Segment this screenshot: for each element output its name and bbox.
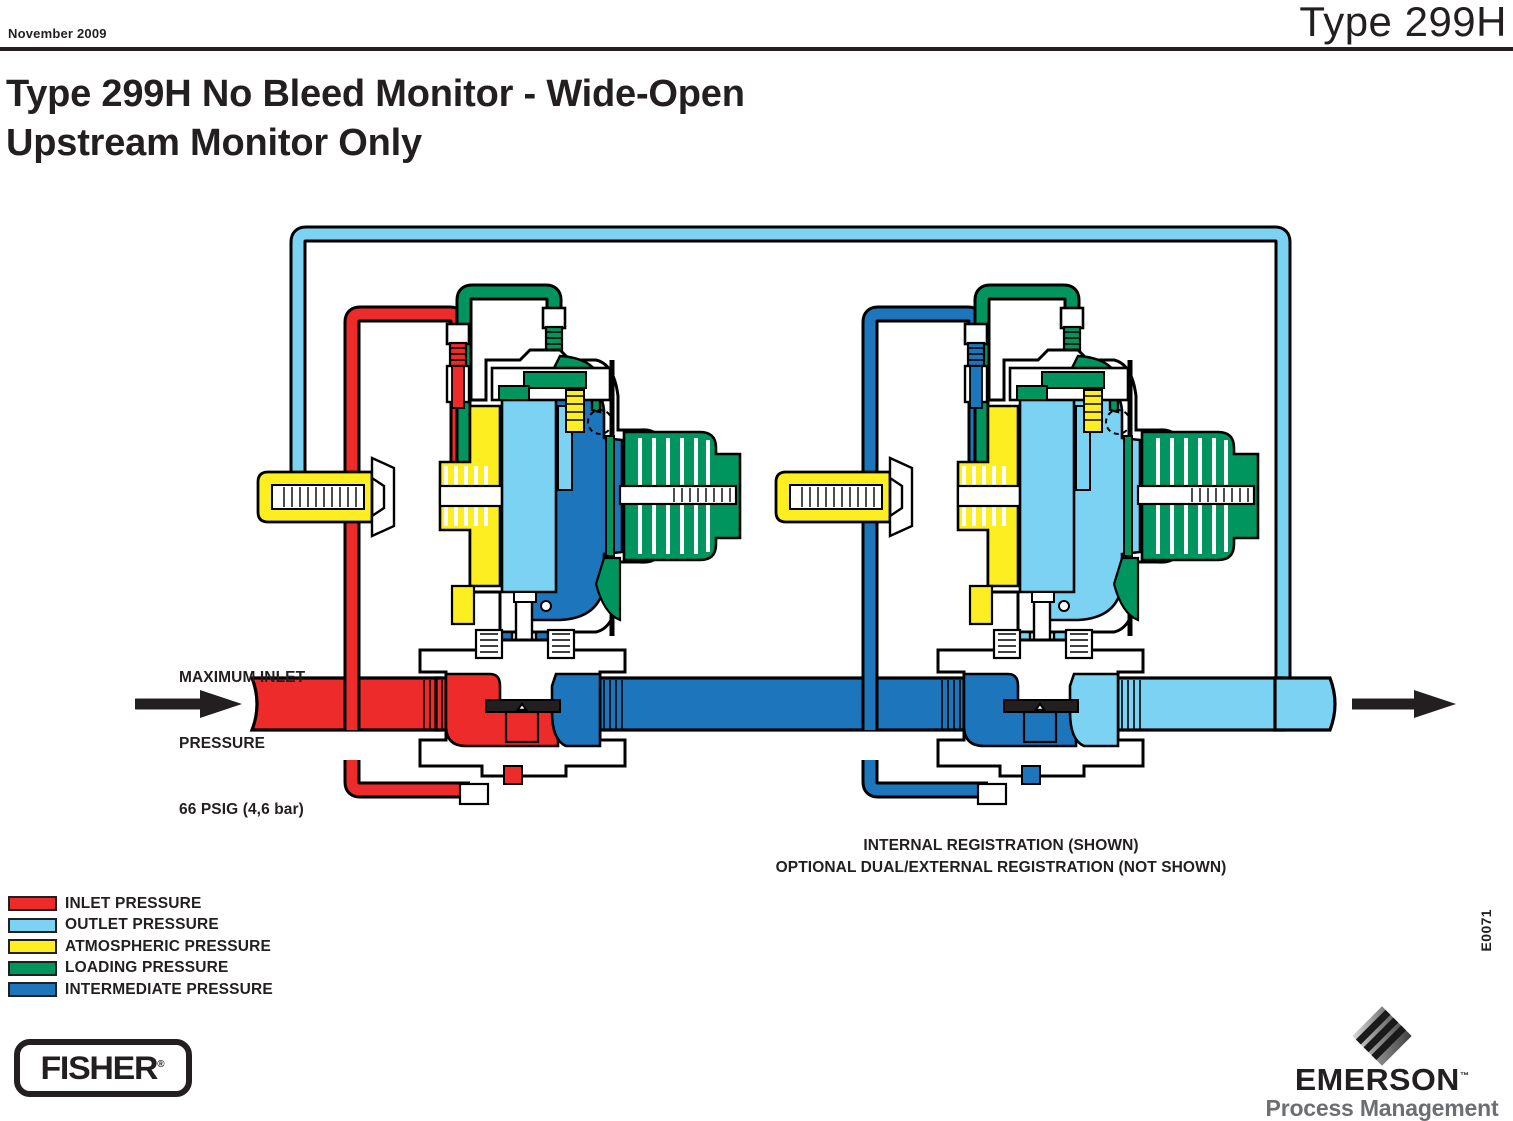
legend-label-loading: LOADING PRESSURE xyxy=(65,959,228,977)
valve-body-downstream xyxy=(938,630,1143,804)
legend-swatch-atmospheric xyxy=(8,939,57,954)
legend-item-loading-pressure: LOADING PRESSURE xyxy=(8,958,273,980)
legend-item-inlet-pressure: INLET PRESSURE xyxy=(8,893,273,915)
fisher-logo: FISHER® xyxy=(14,1039,192,1097)
page-title-line-1: Type 299H No Bleed Monitor - Wide-Open xyxy=(6,70,1106,119)
document-date: November 2009 xyxy=(8,26,107,41)
figure-canvas xyxy=(135,234,1456,804)
legend-label-intermediate: INTERMEDIATE PRESSURE xyxy=(65,981,273,999)
callout-max-inlet-line-2: PRESSURE xyxy=(179,733,305,755)
fisher-wordmark: FISHER® xyxy=(41,1050,166,1087)
pilot-tube-fitting-blue xyxy=(965,324,987,367)
callout-maximum-inlet-pressure: MAXIMUM INLET PRESSURE 66 PSIG (4,6 bar) xyxy=(179,623,305,843)
pilot-spring-case-atmospheric xyxy=(776,406,1028,624)
trademark-icon: ™ xyxy=(1460,1071,1469,1081)
legend-swatch-loading xyxy=(8,961,57,976)
emerson-tagline: Process Management xyxy=(1258,1096,1506,1121)
legend-swatch-outlet xyxy=(8,918,57,933)
legend-swatch-intermediate xyxy=(8,982,57,997)
callout-max-inlet-line-3: 66 PSIG (4,6 bar) xyxy=(179,799,305,821)
legend-item-intermediate-pressure: INTERMEDIATE PRESSURE xyxy=(8,979,273,1001)
header-divider-rule xyxy=(0,47,1513,51)
main-pipe-outlet-section xyxy=(1090,678,1335,730)
emerson-logo: EMERSON™ Process Management xyxy=(1258,1006,1506,1114)
callout-registration-note: INTERNAL REGISTRATION (SHOWN) OPTIONAL D… xyxy=(731,835,1271,879)
legend-label-atmospheric: ATMOSPHERIC PRESSURE xyxy=(65,938,271,956)
outlet-flow-arrow-right xyxy=(1352,690,1456,718)
legend-label-outlet: OUTLET PRESSURE xyxy=(65,916,219,934)
callout-registration-line-2: OPTIONAL DUAL/EXTERNAL REGISTRATION (NOT… xyxy=(731,857,1271,879)
product-type-header: Type 299H xyxy=(1299,0,1507,46)
legend-item-outlet-pressure: OUTLET PRESSURE xyxy=(8,915,273,937)
legend-item-atmospheric-pressure: ATMOSPHERIC PRESSURE xyxy=(8,936,273,958)
pilot-tube-fitting-green xyxy=(543,308,565,351)
emerson-wordmark-text: EMERSON xyxy=(1295,1062,1460,1097)
valve-body-upstream xyxy=(420,630,625,804)
registered-trademark-icon: ® xyxy=(158,1059,165,1070)
main-pipe-intermediate-section xyxy=(586,678,986,730)
fisher-wordmark-text: FISHER xyxy=(41,1050,158,1086)
pressure-color-legend: INLET PRESSURE OUTLET PRESSURE ATMOSPHER… xyxy=(8,893,273,1001)
emerson-diamond-mark xyxy=(1339,1006,1425,1066)
figure-id-code: E0071 xyxy=(1478,909,1494,951)
callout-registration-line-1: INTERNAL REGISTRATION (SHOWN) xyxy=(731,835,1271,857)
page-title-line-2: Upstream Monitor Only xyxy=(6,119,1106,168)
legend-label-inlet: INLET PRESSURE xyxy=(65,895,201,913)
emerson-wordmark: EMERSON™ xyxy=(1254,1064,1509,1095)
pilot-tube-fitting-green xyxy=(1061,308,1083,351)
page-title: Type 299H No Bleed Monitor - Wide-Open U… xyxy=(6,70,1106,167)
pilot-tube-fitting-red xyxy=(447,324,469,367)
legend-swatch-inlet xyxy=(8,896,57,911)
callout-max-inlet-line-1: MAXIMUM INLET xyxy=(179,667,305,689)
